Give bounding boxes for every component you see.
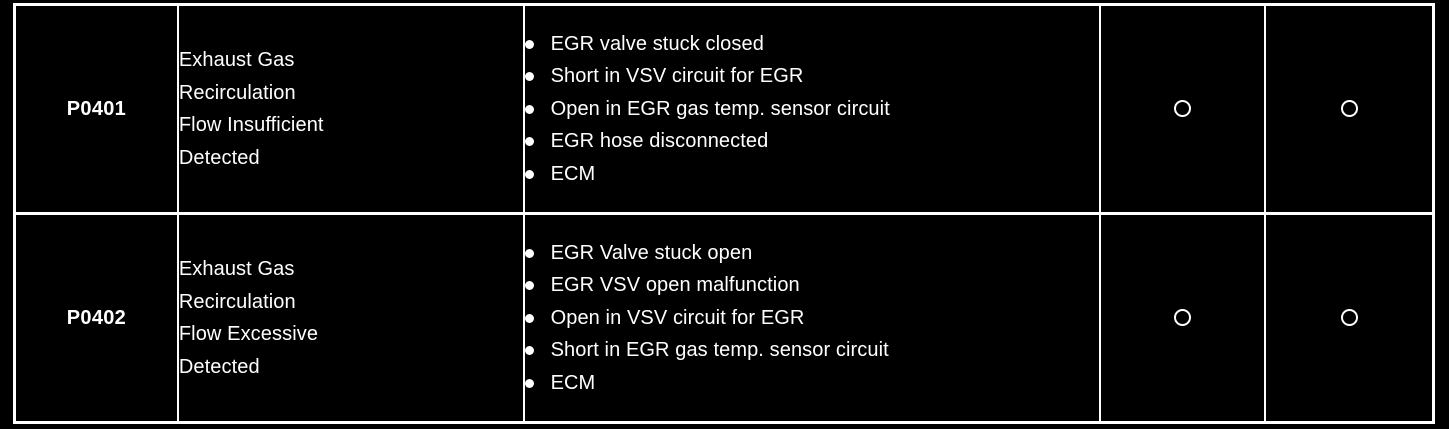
bullet-dot-icon xyxy=(525,379,534,388)
list-item-label: Open in VSV circuit for EGR xyxy=(551,307,805,329)
mil-cell xyxy=(1100,5,1265,214)
memory-cell xyxy=(1265,214,1433,423)
table-row: P0402 Exhaust Gas Recirculation Flow Exc… xyxy=(15,214,1434,423)
open-circle-icon xyxy=(1174,309,1191,326)
bullet-dot-icon xyxy=(525,105,534,114)
list-item-label: Short in EGR gas temp. sensor circuit xyxy=(551,339,889,361)
detection-item-cell: Exhaust Gas Recirculation Flow Excessive… xyxy=(178,214,524,423)
dtc-table-body: P0401 Exhaust Gas Recirculation Flow Ins… xyxy=(15,5,1434,423)
trouble-area-cell: EGR valve stuck closed Short in VSV circ… xyxy=(524,5,1100,214)
detection-item-cell: Exhaust Gas Recirculation Flow Insuffici… xyxy=(178,5,524,214)
bullet-dot-icon xyxy=(525,346,534,355)
bullet-dot-icon xyxy=(525,170,534,179)
open-circle-icon xyxy=(1341,100,1358,117)
trouble-area-list: EGR valve stuck closed Short in VSV circ… xyxy=(525,28,1099,191)
list-item: ECM xyxy=(525,158,1099,191)
list-item: Open in VSV circuit for EGR xyxy=(525,302,1099,335)
list-item: EGR VSV open malfunction xyxy=(525,269,1099,302)
open-circle-icon xyxy=(1174,100,1191,117)
bullet-dot-icon xyxy=(525,249,534,258)
detection-item-line: Exhaust Gas xyxy=(179,44,523,77)
scan-left-margin xyxy=(0,0,13,429)
list-item: Open in EGR gas temp. sensor circuit xyxy=(525,93,1099,126)
detection-item-line: Detected xyxy=(179,351,523,384)
list-item: Short in VSV circuit for EGR xyxy=(525,60,1099,93)
dtc-table: P0401 Exhaust Gas Recirculation Flow Ins… xyxy=(13,3,1435,424)
trouble-area-cell: EGR Valve stuck open EGR VSV open malfun… xyxy=(524,214,1100,423)
list-item-label: ECM xyxy=(551,372,596,394)
detection-item-line: Detected xyxy=(179,142,523,175)
list-item: ECM xyxy=(525,367,1099,400)
detection-item-line: Recirculation xyxy=(179,286,523,319)
list-item: EGR hose disconnected xyxy=(525,125,1099,158)
list-item-label: ECM xyxy=(551,163,596,185)
list-item: Short in EGR gas temp. sensor circuit xyxy=(525,334,1099,367)
list-item: EGR valve stuck closed xyxy=(525,28,1099,61)
bullet-dot-icon xyxy=(525,72,534,81)
bullet-dot-icon xyxy=(525,137,534,146)
detection-item-line: Flow Excessive xyxy=(179,318,523,351)
detection-item-line: Flow Insufficient xyxy=(179,109,523,142)
bullet-dot-icon xyxy=(525,314,534,323)
dtc-code-text: P0401 xyxy=(67,98,126,120)
dtc-code-text: P0402 xyxy=(67,307,126,329)
list-item-label: Short in VSV circuit for EGR xyxy=(551,65,804,87)
scanned-table-page: P0401 Exhaust Gas Recirculation Flow Ins… xyxy=(0,0,1449,429)
list-item-label: Open in EGR gas temp. sensor circuit xyxy=(551,98,890,120)
table-row: P0401 Exhaust Gas Recirculation Flow Ins… xyxy=(15,5,1434,214)
list-item-label: EGR Valve stuck open xyxy=(551,242,753,264)
bullet-dot-icon xyxy=(525,281,534,290)
memory-cell xyxy=(1265,5,1433,214)
detection-item-line: Exhaust Gas xyxy=(179,253,523,286)
mil-cell xyxy=(1100,214,1265,423)
list-item-label: EGR hose disconnected xyxy=(551,130,769,152)
bullet-dot-icon xyxy=(525,40,534,49)
trouble-area-list: EGR Valve stuck open EGR VSV open malfun… xyxy=(525,237,1099,400)
list-item-label: EGR valve stuck closed xyxy=(551,33,764,55)
detection-item-line: Recirculation xyxy=(179,77,523,110)
dtc-code-cell: P0402 xyxy=(15,214,178,423)
list-item: EGR Valve stuck open xyxy=(525,237,1099,270)
dtc-code-cell: P0401 xyxy=(15,5,178,214)
open-circle-icon xyxy=(1341,309,1358,326)
list-item-label: EGR VSV open malfunction xyxy=(551,274,800,296)
